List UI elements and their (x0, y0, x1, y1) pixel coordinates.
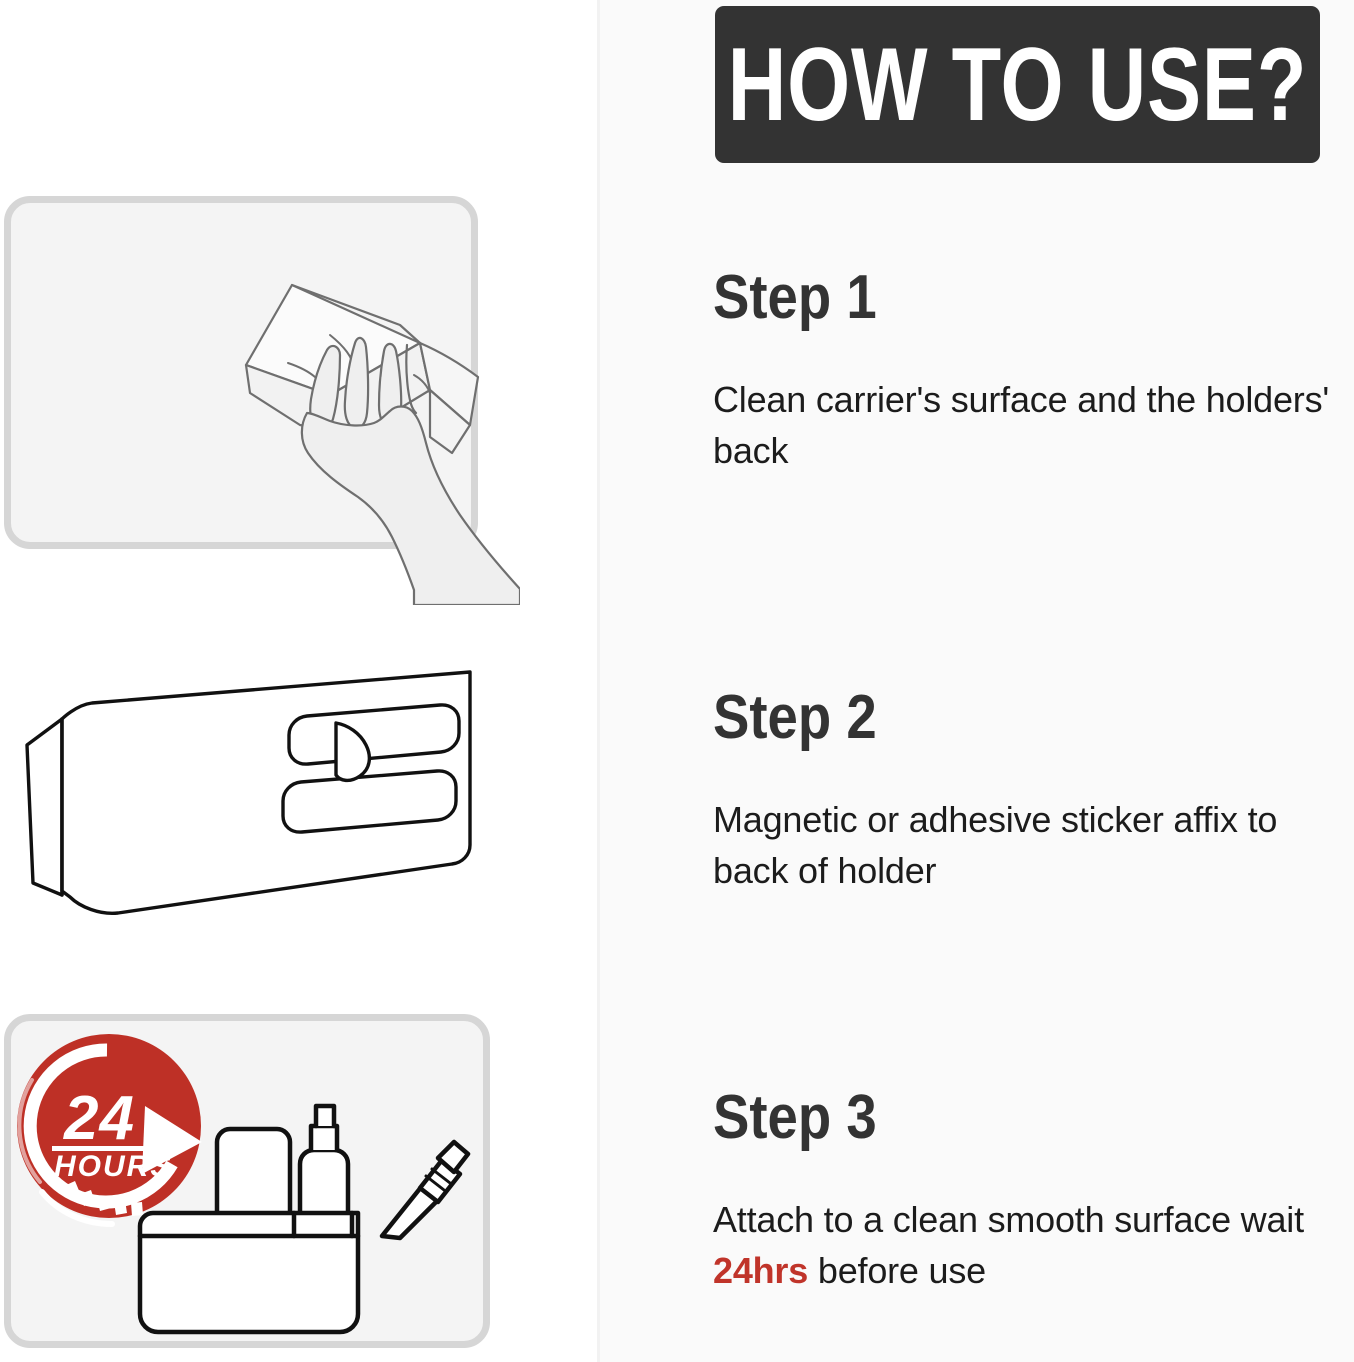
caddy-with-24-hours-badge-illustration: 24 HOURS (4, 1014, 504, 1354)
step-1-body-text: Clean carrier's surface and the holders'… (713, 379, 1329, 471)
badge-unit: HOURS (54, 1150, 172, 1183)
header-banner: HOW TO USE? (715, 6, 1320, 163)
step-3-body-text-after: before use (808, 1250, 986, 1291)
step-3-duration-highlight: 24hrs (713, 1250, 808, 1291)
brush (382, 1142, 468, 1238)
step-3-body-text-before: Attach to a clean smooth surface wait (713, 1199, 1304, 1240)
step-1-heading: Step 1 (713, 265, 1276, 330)
step-2-body-text: Magnetic or adhesive sticker affix to ba… (713, 799, 1277, 891)
step-1-text-block: Step 1 Clean carrier's surface and the h… (713, 265, 1353, 476)
column-divider (597, 0, 600, 1362)
step-3-text-block: Step 3 Attach to a clean smooth surface … (713, 1085, 1353, 1296)
step-2-text-block: Step 2 Magnetic or adhesive sticker affi… (713, 685, 1353, 896)
how-to-use-infographic: HOW TO USE? (0, 0, 1354, 1362)
page-title: HOW TO USE? (728, 33, 1307, 137)
step-3-body: Attach to a clean smooth surface wait 24… (713, 1194, 1353, 1296)
step-1-body: Clean carrier's surface and the holders'… (713, 374, 1353, 476)
caddy-body (140, 1213, 358, 1332)
badge-number: 24 (63, 1084, 135, 1153)
step-2-heading: Step 2 (713, 685, 1276, 750)
hand-wiping-cloth-illustration (0, 185, 520, 605)
step-3-heading: Step 3 (713, 1085, 1276, 1150)
step-2-body: Magnetic or adhesive sticker affix to ba… (713, 794, 1353, 896)
holder-back-adhesive-strips-illustration (0, 645, 520, 935)
twenty-four-hours-badge: 24 HOURS (17, 1034, 202, 1224)
